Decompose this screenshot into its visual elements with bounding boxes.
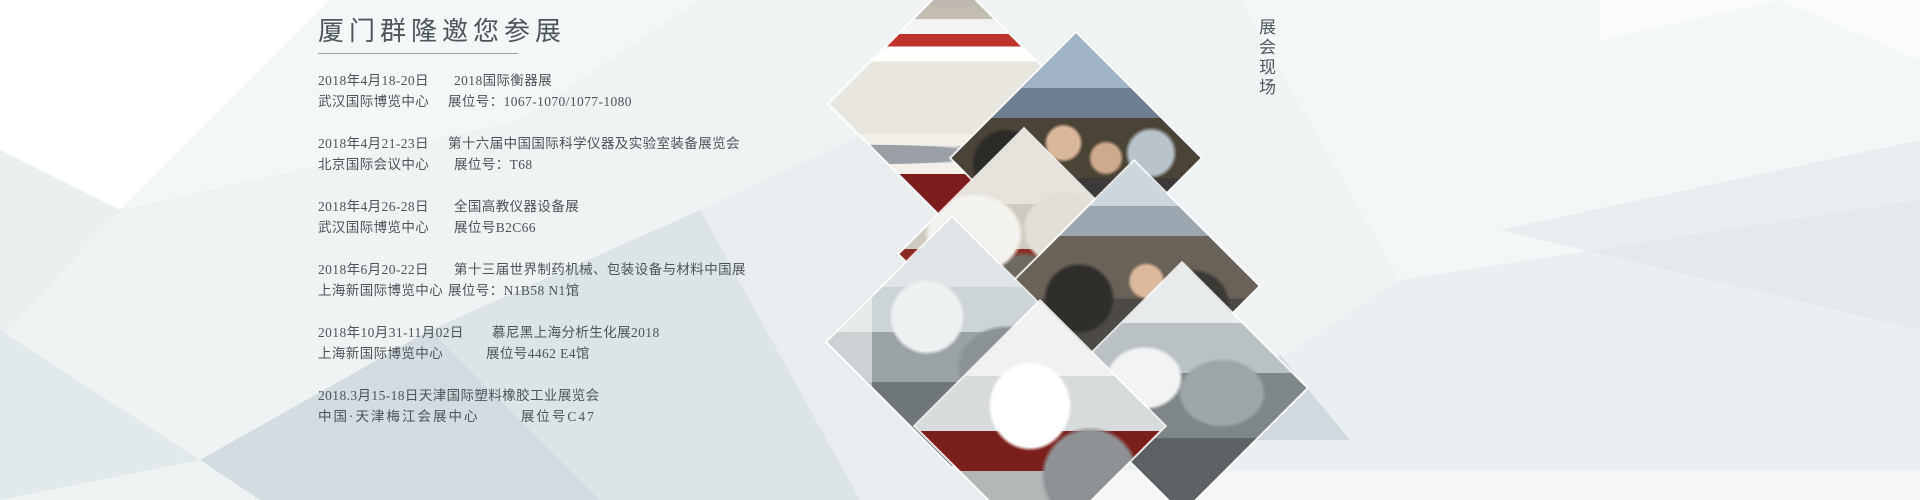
entry-line-venue: 武汉国际博览中心 展位号：1067-1070/1077-1080 <box>318 91 878 112</box>
entry-name: 慕尼黑上海分析生化展2018 <box>478 322 660 343</box>
entry-date: 2018年6月20-22日 <box>318 259 440 280</box>
entry-name: 第十三届世界制药机械、包装设备与材料中国展 <box>440 259 746 280</box>
entry-booth: 展位号：T68 <box>440 154 533 175</box>
entry-line-venue: 上海新国际博览中心 展位号4462 E4馆 <box>318 343 878 364</box>
entry-line-date: 2018.3月15-18日天津国际塑料橡胶工业展览会 <box>318 385 878 406</box>
entry-venue: 武汉国际博览中心 <box>318 91 440 112</box>
collage-vertical-label: 展会现场 <box>1238 18 1278 98</box>
entry-venue: 中国·天津梅江会展中心 <box>318 409 480 424</box>
entry-line-venue: 北京国际会议中心 展位号：T68 <box>318 154 878 175</box>
entry-line-date: 2018年4月21-23日 第十六届中国国际科学仪器及实验室装备展览会 <box>318 133 878 154</box>
entry-line-venue: 中国·天津梅江会展中心 展位号C47 <box>318 406 878 427</box>
entry-date: 2018年10月31-11月02日 <box>318 322 478 343</box>
page-title: 厦门群隆邀您参展 <box>318 16 878 47</box>
title-divider <box>318 53 518 54</box>
entry-name: 第十六届中国国际科学仪器及实验室装备展览会 <box>440 133 740 154</box>
entry-booth: 展位号：1067-1070/1077-1080 <box>440 91 632 112</box>
list-item: 2018年10月31-11月02日 慕尼黑上海分析生化展2018 上海新国际博览… <box>318 322 878 364</box>
exhibition-list: 厦门群隆邀您参展 2018年4月18-20日 2018国际衡器展 武汉国际博览中… <box>318 16 878 448</box>
list-item: 2018年4月18-20日 2018国际衡器展 武汉国际博览中心 展位号：106… <box>318 70 878 112</box>
list-item: 2018年4月26-28日 全国高教仪器设备展 武汉国际博览中心 展位号B2C6… <box>318 196 878 238</box>
entry-booth: 展位号4462 E4馆 <box>478 343 590 364</box>
entry-date: 2018.3月15-18日天津国际塑料橡胶工业展览会 <box>318 388 600 403</box>
list-item: 2018年4月21-23日 第十六届中国国际科学仪器及实验室装备展览会 北京国际… <box>318 133 878 175</box>
entry-line-date: 2018年6月20-22日 第十三届世界制药机械、包装设备与材料中国展 <box>318 259 878 280</box>
list-item: 2018年6月20-22日 第十三届世界制药机械、包装设备与材料中国展 上海新国… <box>318 259 878 301</box>
entry-venue: 上海新国际博览中心 <box>318 280 440 301</box>
entry-date: 2018年4月21-23日 <box>318 133 440 154</box>
entry-line-date: 2018年4月18-20日 2018国际衡器展 <box>318 70 878 91</box>
entry-date: 2018年4月18-20日 <box>318 70 440 91</box>
list-item: 2018.3月15-18日天津国际塑料橡胶工业展览会 中国·天津梅江会展中心 展… <box>318 385 878 427</box>
photo-collage <box>840 0 1260 500</box>
entry-name: 2018国际衡器展 <box>440 70 552 91</box>
entry-line-venue: 上海新国际博览中心 展位号：N1B58 N1馆 <box>318 280 878 301</box>
entry-venue: 上海新国际博览中心 <box>318 343 478 364</box>
entry-date: 2018年4月26-28日 <box>318 196 440 217</box>
entry-line-date: 2018年10月31-11月02日 慕尼黑上海分析生化展2018 <box>318 322 878 343</box>
entry-line-venue: 武汉国际博览中心 展位号B2C66 <box>318 217 878 238</box>
entry-venue: 北京国际会议中心 <box>318 154 440 175</box>
entry-booth: 展位号C47 <box>521 409 596 424</box>
entry-booth: 展位号B2C66 <box>440 217 536 238</box>
entry-venue: 武汉国际博览中心 <box>318 217 440 238</box>
exhibition-banner: 厦门群隆邀您参展 2018年4月18-20日 2018国际衡器展 武汉国际博览中… <box>0 0 1920 500</box>
entry-line-date: 2018年4月26-28日 全国高教仪器设备展 <box>318 196 878 217</box>
entry-name: 全国高教仪器设备展 <box>440 196 579 217</box>
entry-booth: 展位号：N1B58 N1馆 <box>440 280 580 301</box>
